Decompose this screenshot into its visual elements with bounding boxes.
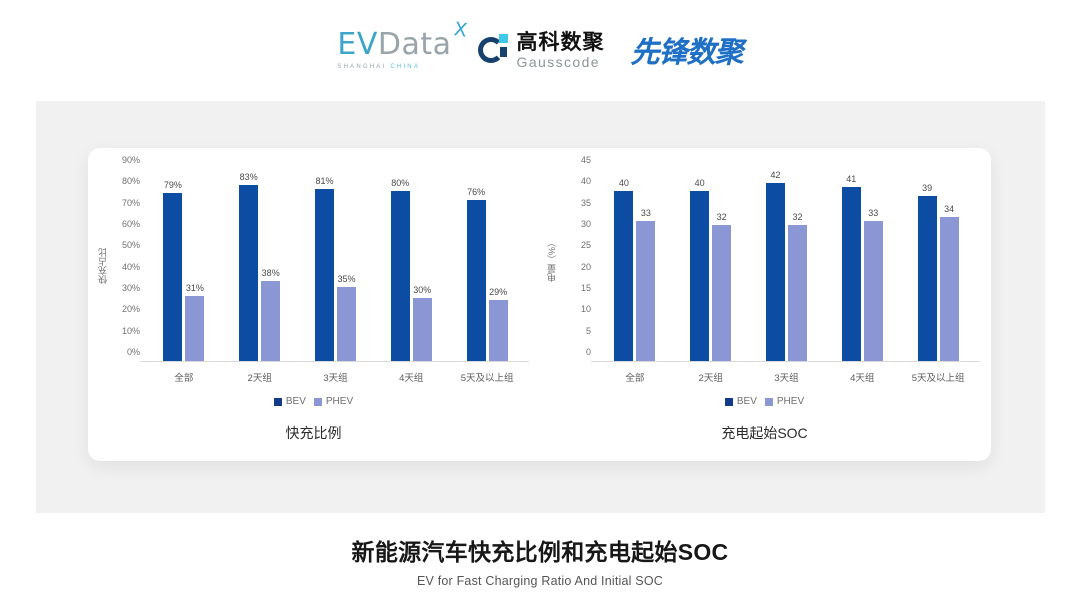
bar-value-label: 40 [695,178,705,188]
xianfengshuju-logo: 先锋数聚 [631,29,743,71]
y-tick-right: 25 [581,240,591,250]
y-tick-left: 50% [122,240,140,250]
bar-bev[interactable]: 79% [163,193,182,362]
legend-label-bev-left: BEV [286,396,306,407]
page-title: 新能源汽车快充比例和充电起始SOC [0,533,1080,567]
bar-value-label: 33 [868,208,878,218]
evdata-tagline-country: CHINA [390,64,420,70]
footer: 新能源汽车快充比例和充电起始SOC EV for Fast Charging R… [0,533,1080,588]
x-mark-icon: X [453,20,469,41]
legend-item-phev-left: PHEV [314,396,353,407]
axis-area-left: 79%31%83%38%81%35%80%30%76%29% 90%80%70%… [146,170,525,362]
bar-phev[interactable]: 35% [337,287,356,362]
y-tick-left: 0% [127,347,140,357]
bar-value-label: 83% [240,172,258,182]
y-tick-right: 5 [586,326,591,336]
bar-value-label: 32 [792,212,802,222]
gausscode-cn-text: 高科数聚 [517,32,605,53]
legend-left: BEV PHEV [88,396,539,407]
bar-phev[interactable]: 32 [712,225,731,362]
legend-item-bev-left: BEV [274,396,306,407]
bar-value-label: 31% [186,283,204,293]
x-tick-label: 5天及以上组 [449,370,525,384]
y-tick-left: 90% [122,155,140,165]
bar-value-label: 81% [315,176,333,186]
legend-label-bev-right: BEV [737,396,757,407]
bar-phev[interactable]: 38% [261,281,280,362]
x-tick-label: 3天组 [298,370,374,384]
y-axis-label-left: 快充占比 [96,248,109,284]
logo-bar: EVData X SHANGHAI CHINA 高科数聚 Gausscode 先… [0,22,1080,78]
legend-swatch-phev-right [765,398,773,406]
evdata-tagline: SHANGHAI CHINA [337,64,420,70]
y-axis-label-right: 电量（%） [545,238,558,282]
y-tick-left: 30% [122,283,140,293]
x-tick-label: 2天组 [222,370,298,384]
bar-value-label: 40 [619,178,629,188]
bar-bev[interactable]: 83% [239,185,258,362]
chart-initial-soc: 电量（%） 40334032423241333934 4540353025201… [539,148,990,461]
plot-area-left: 快充占比 79%31%83%38%81%35%80%30%76%29% 90%8… [88,160,539,390]
bar-value-label: 38% [262,268,280,278]
legend-label-phev-left: PHEV [326,396,353,407]
bar-group: 4033 [597,170,673,362]
bar-value-label: 35% [337,274,355,284]
bar-phev[interactable]: 33 [864,221,883,362]
bar-value-label: 79% [164,180,182,190]
legend-item-bev-right: BEV [725,396,757,407]
bar-value-label: 29% [489,287,507,297]
y-tick-left: 20% [122,304,140,314]
bar-phev[interactable]: 29% [489,300,508,362]
chart-title-right: 充电起始SOC [539,423,990,443]
bar-group: 3934 [900,170,976,362]
bar-value-label: 76% [467,187,485,197]
legend-swatch-phev-left [314,398,322,406]
bar-bev[interactable]: 40 [614,191,633,362]
charts-row: 快充占比 79%31%83%38%81%35%80%30%76%29% 90%8… [88,148,991,461]
y-tick-right: 35 [581,198,591,208]
x-axis-labels-left: 全部2天组3天组4天组5天及以上组 [146,370,525,384]
bar-bev[interactable]: 80% [391,191,410,362]
bar-value-label: 34 [944,204,954,214]
y-tick-left: 40% [122,262,140,272]
bar-value-label: 39 [922,183,932,193]
bar-phev[interactable]: 33 [636,221,655,362]
bar-bev[interactable]: 81% [315,189,334,362]
y-tick-left: 10% [122,326,140,336]
bar-groups-left: 79%31%83%38%81%35%80%30%76%29% [146,170,525,362]
x-axis-line-left [140,361,529,362]
y-tick-left: 70% [122,198,140,208]
bar-group: 81%35% [298,170,374,362]
bar-phev[interactable]: 34 [940,217,959,362]
page-subtitle: EV for Fast Charging Ratio And Initial S… [0,574,1080,588]
y-tick-right: 20 [581,262,591,272]
x-tick-label: 3天组 [749,370,825,384]
y-tick-right: 30 [581,219,591,229]
x-tick-label: 2天组 [673,370,749,384]
x-axis-labels-right: 全部2天组3天组4天组5天及以上组 [597,370,976,384]
y-tick-right: 40 [581,176,591,186]
bar-bev[interactable]: 39 [918,196,937,362]
bar-bev[interactable]: 41 [842,187,861,362]
legend-swatch-bev-right [725,398,733,406]
bar-group: 80%30% [373,170,449,362]
bar-group: 79%31% [146,170,222,362]
bar-value-label: 42 [770,170,780,180]
evdata-data-text: Data [378,27,452,62]
bar-value-label: 32 [717,212,727,222]
bar-value-label: 33 [641,208,651,218]
bar-group: 4133 [824,170,900,362]
gausscode-en-text: Gausscode [517,55,605,69]
bar-phev[interactable]: 31% [185,296,204,362]
evdata-tagline-city: SHANGHAI [337,64,386,70]
x-tick-label: 4天组 [373,370,449,384]
gausscode-logo: 高科数聚 Gausscode [478,32,605,69]
legend-right: BEV PHEV [539,396,990,407]
gausscode-circle-icon [478,34,510,66]
bar-bev[interactable]: 42 [766,183,785,362]
bar-bev[interactable]: 76% [467,200,486,362]
gausscode-bar-shape [500,47,507,57]
bar-group: 83%38% [222,170,298,362]
bar-groups-right: 40334032423241333934 [597,170,976,362]
x-tick-label: 5天及以上组 [900,370,976,384]
evdata-logo: EVData X SHANGHAI CHINA [337,30,451,70]
legend-swatch-bev-left [274,398,282,406]
x-axis-line-right [591,361,980,362]
bar-group: 76%29% [449,170,525,362]
chart-fast-charging-ratio: 快充占比 79%31%83%38%81%35%80%30%76%29% 90%8… [88,148,539,461]
bar-group: 4232 [749,170,825,362]
axis-area-right: 40334032423241333934 454035302520151050 [597,170,976,362]
chart-title-left: 快充比例 [88,423,539,443]
y-tick-left: 80% [122,176,140,186]
y-tick-right: 10 [581,304,591,314]
y-tick-right: 15 [581,283,591,293]
y-tick-right: 45 [581,155,591,165]
legend-item-phev-right: PHEV [765,396,804,407]
x-tick-label: 全部 [146,370,222,384]
bar-group: 4032 [673,170,749,362]
legend-label-phev-right: PHEV [777,396,804,407]
plot-area-right: 电量（%） 40334032423241333934 4540353025201… [539,160,990,390]
x-tick-label: 全部 [597,370,673,384]
x-tick-label: 4天组 [824,370,900,384]
bar-bev[interactable]: 40 [690,191,709,362]
bar-value-label: 30% [413,285,431,295]
bar-phev[interactable]: 32 [788,225,807,362]
gausscode-wordmark: 高科数聚 Gausscode [517,32,605,69]
gausscode-square-shape [499,34,508,43]
y-tick-left: 60% [122,219,140,229]
bar-phev[interactable]: 30% [413,298,432,362]
evdata-ev-text: EV [337,27,377,62]
evdata-wordmark: EVData X [337,30,451,60]
charts-card: 快充占比 79%31%83%38%81%35%80%30%76%29% 90%8… [88,148,991,461]
y-tick-right: 0 [586,347,591,357]
bar-value-label: 80% [391,178,409,188]
bar-value-label: 41 [846,174,856,184]
